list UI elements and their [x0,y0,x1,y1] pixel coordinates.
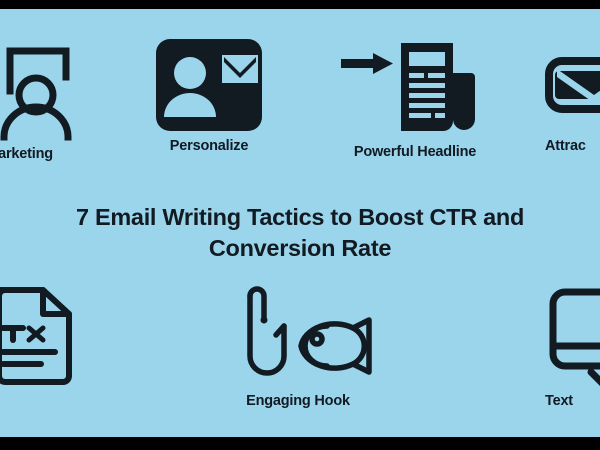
tactic-item-textcta: Text [545,284,600,410]
tactic-label-personalize: Personalize [170,139,248,155]
tactic-item-attract: Attrac [545,37,600,155]
tactic-item-hook: Engaging Hook [222,284,374,410]
page-title-line-2: Conversion Rate [0,233,600,264]
tactic-item-preheader: er Text [0,284,114,410]
person-in-frame-icon [0,37,118,141]
infographic-stage: nse Marketing Personalize [0,9,600,437]
txt-document-icon [0,284,114,388]
page-title: 7 Email Writing Tactics to Boost CTR and… [0,202,600,265]
page-title-line-1: 7 Email Writing Tactics to Boost CTR and [0,202,600,233]
arrow-to-newspaper-icon [335,37,495,139]
envelope-rounded-icon [545,37,600,133]
tactic-label-headline: Powerful Headline [354,145,476,161]
monitor-card-icon [545,284,600,388]
contact-card-envelope-icon [154,37,264,133]
tactic-label-hook: Engaging Hook [246,394,350,410]
tactic-item-audience: nse Marketing [0,37,118,163]
tactic-label-textcta: Text [545,394,600,410]
tactic-item-personalize: Personalize [150,37,268,155]
tactic-label-audience: nse Marketing [0,147,53,163]
fishing-hook-fish-icon [223,284,373,388]
top-letterbox-bar [0,0,600,9]
tactic-item-headline: Powerful Headline [330,37,500,161]
bottom-letterbox-bar [0,437,600,450]
tactic-label-attract: Attrac [545,139,600,155]
infographic-canvas: nse Marketing Personalize [0,0,600,450]
